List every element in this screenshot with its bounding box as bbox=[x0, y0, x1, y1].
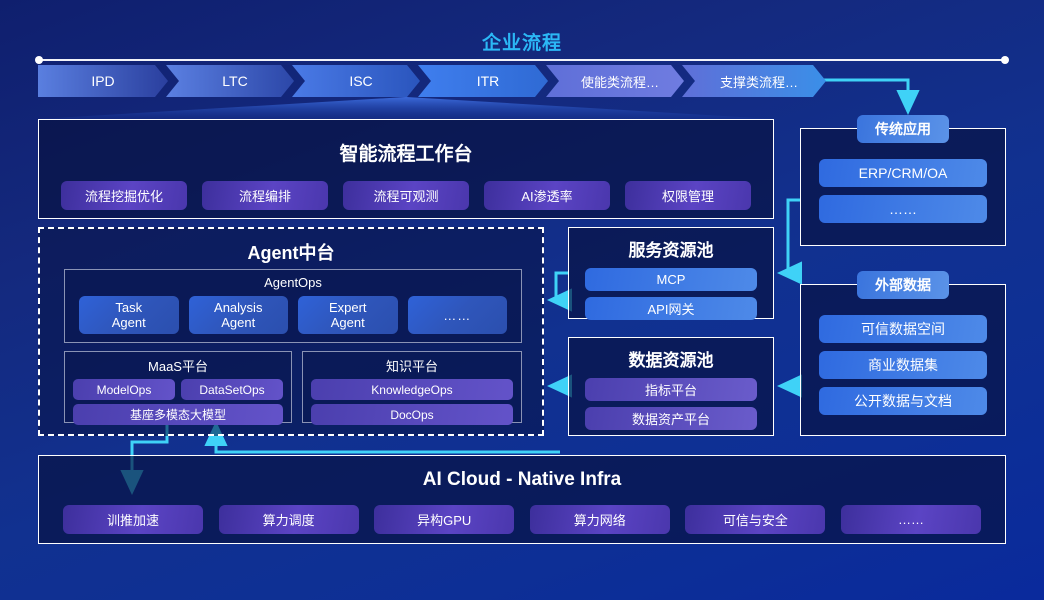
legacy-application-items: ERP/CRM/OA …… bbox=[801, 159, 1005, 223]
process-rail-dot-right bbox=[1001, 56, 1009, 64]
infra-title: AI Cloud - Native Infra bbox=[39, 469, 1005, 491]
process-rail-dot-left bbox=[35, 56, 43, 64]
agent-card-task-line2: Agent bbox=[112, 315, 146, 330]
legacy-application-panel: 传统应用 ERP/CRM/OA …… bbox=[800, 128, 1006, 246]
infra-item-compute-network[interactable]: 算力网络 bbox=[530, 505, 670, 534]
service-resource-pool-title: 服务资源池 bbox=[569, 236, 773, 261]
agent-card-task[interactable]: Task Agent bbox=[79, 296, 179, 334]
data-resource-pool-title: 数据资源池 bbox=[569, 346, 773, 371]
maas-item-datasetops[interactable]: DataSetOps bbox=[181, 379, 283, 400]
maas-row-1: ModelOps DataSetOps bbox=[65, 379, 291, 400]
agentops-title: AgentOps bbox=[65, 275, 521, 290]
connector-service-to-agent bbox=[550, 273, 568, 300]
agent-platform-title: Agent中台 bbox=[40, 239, 542, 265]
workbench-item-observability[interactable]: 流程可观测 bbox=[343, 181, 469, 210]
workbench-item-list: 流程挖掘优化 流程编排 流程可观测 AI渗透率 权限管理 bbox=[39, 181, 773, 210]
legacy-item-erp-crm-oa[interactable]: ERP/CRM/OA bbox=[819, 159, 987, 187]
agentops-box: AgentOps Task Agent Analysis Agent Exper… bbox=[64, 269, 522, 343]
agent-card-more-label: …… bbox=[443, 308, 471, 323]
maas-row-2: 基座多模态大模型 bbox=[65, 404, 291, 425]
agent-card-expert-line2: Agent bbox=[331, 315, 365, 330]
service-item-mcp[interactable]: MCP bbox=[585, 268, 757, 291]
process-step-ltc[interactable]: LTC bbox=[166, 65, 294, 97]
maas-item-foundation-model[interactable]: 基座多模态大模型 bbox=[73, 404, 283, 425]
enterprise-process-title: 企业流程 bbox=[0, 28, 1044, 55]
process-step-itr[interactable]: ITR bbox=[418, 65, 548, 97]
maas-platform-title: MaaS平台 bbox=[65, 356, 291, 375]
knowledge-row-1: KnowledgeOps bbox=[303, 379, 521, 400]
workbench-panel: 智能流程工作台 流程挖掘优化 流程编排 流程可观测 AI渗透率 权限管理 bbox=[38, 119, 774, 219]
service-resource-pool-items: MCP API网关 bbox=[569, 268, 773, 320]
workbench-title: 智能流程工作台 bbox=[39, 139, 773, 166]
service-resource-pool-panel: 服务资源池 MCP API网关 bbox=[568, 227, 774, 319]
data-resource-pool-items: 指标平台 数据资产平台 bbox=[569, 378, 773, 430]
external-data-panel: 外部数据 可信数据空间 商业数据集 公开数据与文档 bbox=[800, 284, 1006, 436]
infra-item-training-inference-accel[interactable]: 训推加速 bbox=[63, 505, 203, 534]
knowledge-item-docops[interactable]: DocOps bbox=[311, 404, 513, 425]
external-data-title: 外部数据 bbox=[857, 271, 949, 299]
service-item-api-gateway[interactable]: API网关 bbox=[585, 297, 757, 320]
agent-card-expert-line1: Expert bbox=[329, 300, 367, 315]
knowledge-item-knowledgeops[interactable]: KnowledgeOps bbox=[311, 379, 513, 400]
agent-platform-zone: Agent中台 AgentOps Task Agent Analysis Age… bbox=[38, 227, 544, 436]
external-data-items: 可信数据空间 商业数据集 公开数据与文档 bbox=[801, 315, 1005, 415]
connector-legacy-to-service bbox=[780, 200, 800, 273]
agent-card-more[interactable]: …… bbox=[408, 296, 508, 334]
agent-card-task-line1: Task bbox=[115, 300, 142, 315]
infra-item-more[interactable]: …… bbox=[841, 505, 981, 534]
infra-item-trust-security[interactable]: 可信与安全 bbox=[685, 505, 825, 534]
agent-card-analysis-line1: Analysis bbox=[214, 300, 262, 315]
architecture-diagram: 企业流程 IPD LTC ISC ITR 使能类流程… 支撑类流程… 智能流程工… bbox=[0, 0, 1044, 600]
infra-item-list: 训推加速 算力调度 异构GPU 算力网络 可信与安全 …… bbox=[39, 505, 1005, 534]
external-item-trusted-data-space[interactable]: 可信数据空间 bbox=[819, 315, 987, 343]
maas-platform-box: MaaS平台 ModelOps DataSetOps 基座多模态大模型 bbox=[64, 351, 292, 423]
external-item-commercial-dataset[interactable]: 商业数据集 bbox=[819, 351, 987, 379]
process-step-ipd[interactable]: IPD bbox=[38, 65, 168, 97]
agent-card-analysis[interactable]: Analysis Agent bbox=[189, 296, 289, 334]
knowledge-platform-box: 知识平台 KnowledgeOps DocOps bbox=[302, 351, 522, 423]
legacy-application-title: 传统应用 bbox=[857, 115, 949, 143]
agent-card-expert[interactable]: Expert Agent bbox=[298, 296, 398, 334]
maas-item-modelops[interactable]: ModelOps bbox=[73, 379, 175, 400]
external-item-public-data-docs[interactable]: 公开数据与文档 bbox=[819, 387, 987, 415]
agent-card-analysis-line2: Agent bbox=[221, 315, 255, 330]
process-step-enabling[interactable]: 使能类流程… bbox=[546, 65, 684, 97]
process-chevron-bar: IPD LTC ISC ITR 使能类流程… 支撑类流程… bbox=[38, 65, 1006, 97]
infra-panel: AI Cloud - Native Infra 训推加速 算力调度 异构GPU … bbox=[38, 455, 1006, 544]
data-item-metrics-platform[interactable]: 指标平台 bbox=[585, 378, 757, 401]
infra-item-heterogeneous-gpu[interactable]: 异构GPU bbox=[374, 505, 514, 534]
agent-card-list: Task Agent Analysis Agent Expert Agent …… bbox=[65, 296, 521, 334]
process-step-supporting[interactable]: 支撑类流程… bbox=[682, 65, 826, 97]
workbench-item-orchestration[interactable]: 流程编排 bbox=[202, 181, 328, 210]
process-step-isc[interactable]: ISC bbox=[292, 65, 420, 97]
legacy-item-more[interactable]: …… bbox=[819, 195, 987, 223]
workbench-item-ai-penetration[interactable]: AI渗透率 bbox=[484, 181, 610, 210]
data-resource-pool-panel: 数据资源池 指标平台 数据资产平台 bbox=[568, 337, 774, 436]
workbench-item-process-mining[interactable]: 流程挖掘优化 bbox=[61, 181, 187, 210]
knowledge-platform-title: 知识平台 bbox=[303, 356, 521, 375]
infra-item-compute-scheduling[interactable]: 算力调度 bbox=[219, 505, 359, 534]
knowledge-row-2: DocOps bbox=[303, 404, 521, 425]
funnel-shape bbox=[38, 97, 774, 119]
data-item-asset-platform[interactable]: 数据资产平台 bbox=[585, 407, 757, 430]
workbench-item-permissions[interactable]: 权限管理 bbox=[625, 181, 751, 210]
process-rail bbox=[38, 59, 1006, 61]
